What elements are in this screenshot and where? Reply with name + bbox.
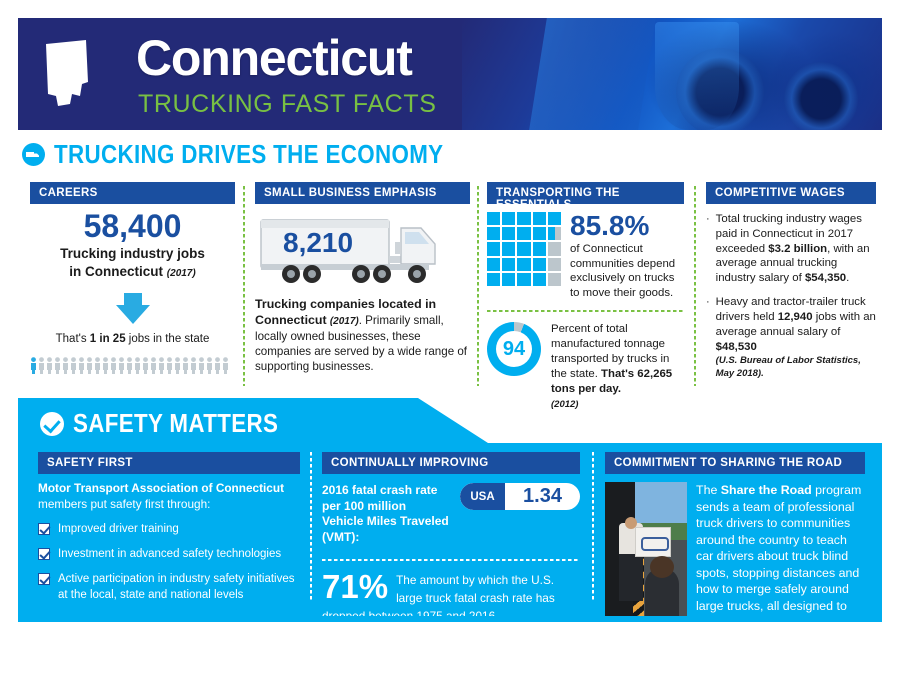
safety-first-lead-rest: members put safety first through: (38, 497, 210, 511)
waffle-cell (517, 273, 530, 286)
truck-wheel-decor-2 (784, 62, 858, 130)
waffle-cell (487, 227, 500, 240)
truck-driver-demonstration-photo (605, 482, 687, 617)
person-icon (166, 357, 173, 374)
waffle-cell (548, 242, 561, 255)
wages-bullet-list: ·Total trucking industry wages paid in C… (706, 212, 876, 380)
person-icon (158, 357, 165, 374)
panel-wages-heading: COMPETITIVE WAGES (706, 182, 876, 204)
person-icon (190, 357, 197, 374)
panel-transporting-heading: TRANSPORTING THE ESSENTIALS (487, 182, 684, 204)
footer: ATRI ★ AmericanTransportationResearchIns… (0, 624, 900, 684)
crash-rate-row: 2016 fatal crash rate per 100 million Ve… (322, 483, 580, 545)
waffle-cell (517, 227, 530, 240)
panel-wages: COMPETITIVE WAGES ·Total trucking indust… (706, 182, 876, 389)
bullet-dot-icon: · (706, 212, 710, 286)
waffle-cell (533, 227, 546, 240)
waffle-cell (487, 258, 500, 271)
careers-ratio-bold: 1 in 25 (90, 333, 126, 345)
infographic-page: Connecticut TRUCKING FAST FACTS TRUCKING… (0, 0, 900, 684)
person-icon (54, 357, 61, 374)
usa-badge-region: USA (460, 483, 505, 510)
waffle-cell (533, 212, 546, 225)
safety-checklist-item-2[interactable]: Investment in advanced safety technologi… (38, 547, 300, 562)
careers-ratio-suffix: jobs in the state (126, 333, 210, 345)
small-business-big-number: 8,210 (283, 227, 353, 259)
crash-drop-percent: 71% (322, 571, 388, 602)
waffle-cell (517, 242, 530, 255)
waffle-cell (533, 258, 546, 271)
waffle-cell (548, 258, 561, 271)
waffle-cell (533, 242, 546, 255)
safety-checklist-label: Investment in advanced safety technologi… (58, 547, 281, 562)
person-icon (206, 357, 213, 374)
waffle-cell (517, 258, 530, 271)
section-title-economy-label: TRUCKING DRIVES THE ECONOMY (54, 139, 443, 170)
tonnage-text: Percent of total manufactured tonnage tr… (551, 322, 684, 396)
people-pictogram (30, 357, 235, 374)
person-icon (182, 357, 189, 374)
checkbox-checked-icon[interactable] (38, 523, 50, 535)
section-title-safety-label: SAFETY MATTERS (73, 408, 278, 439)
careers-line-2: in Connecticut (2017) (30, 264, 235, 280)
checkbox-checked-icon[interactable] (38, 573, 50, 585)
person-icon (174, 357, 181, 374)
waffle-cell (502, 227, 515, 240)
safety-first-lead-bold: Motor Transport Association of Connectic… (38, 481, 284, 495)
careers-line-1: Trucking industry jobs (30, 246, 235, 262)
panel-continually-improving: CONTINUALLY IMPROVING 2016 fatal crash r… (322, 452, 580, 625)
panel-improving-heading: CONTINUALLY IMPROVING (322, 452, 580, 474)
safety-first-lead: Motor Transport Association of Connectic… (38, 481, 300, 512)
panel-small-business-heading: SMALL BUSINESS EMPHASIS (255, 182, 470, 204)
down-arrow-icon (30, 293, 235, 324)
panel-safety-first-heading: SAFETY FIRST (38, 452, 300, 474)
person-icon (134, 357, 141, 374)
person-icon (150, 357, 157, 374)
wages-bullet: ·Total trucking industry wages paid in C… (706, 212, 876, 286)
waffle-cell (502, 242, 515, 255)
waffle-cell (487, 242, 500, 255)
careers-ratio-prefix: That's (56, 333, 90, 345)
page-title: Connecticut (136, 33, 412, 83)
header-banner: Connecticut TRUCKING FAST FACTS (18, 18, 882, 130)
small-business-year: (2017) (330, 316, 359, 327)
person-icon (78, 357, 85, 374)
careers-year: (2017) (167, 268, 196, 279)
waffle-cell (487, 273, 500, 286)
person-icon-highlighted (30, 357, 37, 374)
panel-careers-heading: CAREERS (30, 182, 235, 204)
waffle-cell (548, 212, 561, 225)
footer-accent-bar (18, 616, 882, 622)
transporting-top-row: 85.8% of Connecticut communities depend … (487, 212, 684, 300)
panel-small-business: SMALL BUSINESS EMPHASIS 8,210 (255, 182, 470, 375)
divider-transporting-inner (487, 310, 684, 312)
wages-bullet: ·Heavy and tractor-trailer truck drivers… (706, 295, 876, 380)
transporting-percent-text: of Connecticut communities depend exclus… (570, 242, 684, 300)
waffle-grid-chart (487, 212, 561, 286)
waffle-cell (502, 212, 515, 225)
panel-transporting: TRANSPORTING THE ESSENTIALS 85.8% of Con… (487, 182, 684, 410)
divider-improving-inner (322, 559, 580, 561)
waffle-cell (548, 273, 561, 286)
divider-improving-sharing (592, 452, 594, 602)
transporting-percent: 85.8% (570, 212, 684, 240)
careers-line-2-text: in Connecticut (69, 264, 163, 279)
safety-checklist-label: Active participation in industry safety … (58, 572, 300, 602)
tonnage-row: 94 Percent of total manufactured tonnage… (487, 322, 684, 409)
person-icon (142, 357, 149, 374)
person-icon (62, 357, 69, 374)
checkbox-checked-icon[interactable] (38, 548, 50, 560)
check-circle-icon (40, 412, 64, 436)
person-icon (70, 357, 77, 374)
panel-sharing-heading: COMMITMENT TO SHARING THE ROAD (605, 452, 865, 474)
usa-badge-value: 1.34 (505, 483, 580, 510)
sharing-text: The Share the Road program sends a team … (696, 482, 865, 647)
person-icon (110, 357, 117, 374)
truck-wheel-decor (676, 48, 764, 130)
waffle-cell (517, 212, 530, 225)
sharing-content-row: The Share the Road program sends a team … (605, 482, 865, 647)
waffle-cell (533, 273, 546, 286)
bullet-dot-icon: · (706, 295, 710, 380)
person-icon (198, 357, 205, 374)
panel-safety-first: SAFETY FIRST Motor Transport Association… (38, 452, 300, 603)
person-icon (126, 357, 133, 374)
page-subtitle: TRUCKING FAST FACTS (138, 90, 436, 119)
person-icon (214, 357, 221, 374)
tonnage-donut-chart: 94 (487, 322, 541, 376)
usa-rate-badge: USA 1.34 (460, 483, 580, 510)
person-icon (102, 357, 109, 374)
economy-panels: CAREERS 58,400 Trucking industry jobs in… (0, 182, 900, 382)
divider-safety-improving (310, 452, 312, 602)
truck-photo-background (462, 18, 882, 130)
person-icon (86, 357, 93, 374)
waffle-cell (548, 227, 561, 240)
sharing-text-bold: Share the Road (721, 483, 812, 497)
person-icon (222, 357, 229, 374)
sharing-text-pre: The (696, 483, 721, 497)
safety-checklist-label: Improved driver training (58, 522, 179, 537)
section-title-economy: TRUCKING DRIVES THE ECONOMY (22, 139, 507, 170)
waffle-cell (502, 273, 515, 286)
person-icon (46, 357, 53, 374)
person-icon (38, 357, 45, 374)
waffle-cell (502, 258, 515, 271)
person-icon (94, 357, 101, 374)
wages-source: (U.S. Bureau of Labor Statistics, May 20… (716, 355, 876, 380)
safety-checklist-item-3[interactable]: Active participation in industry safety … (38, 572, 300, 602)
tonnage-source: (2012) (551, 399, 684, 410)
connecticut-state-outline-icon (42, 38, 90, 110)
waffle-cell (487, 212, 500, 225)
tonnage-donut-value: 94 (487, 322, 541, 376)
truck-circle-icon (22, 143, 45, 166)
wages-bullet-text: Heavy and tractor-trailer truck drivers … (716, 295, 876, 380)
person-icon (118, 357, 125, 374)
careers-ratio-text: That's 1 in 25 jobs in the state (30, 333, 235, 345)
crash-rate-label: 2016 fatal crash rate per 100 million Ve… (322, 483, 450, 545)
safety-checklist-item-1[interactable]: Improved driver training (38, 522, 300, 537)
semi-truck-icon: 8,210 (255, 212, 470, 294)
careers-big-number: 58,400 (30, 210, 235, 244)
panel-careers: CAREERS 58,400 Trucking industry jobs in… (30, 182, 235, 374)
section-title-safety: SAFETY MATTERS (40, 408, 312, 439)
small-business-body: Trucking companies located in Connecticu… (255, 296, 470, 375)
wages-bullet-text: Total trucking industry wages paid in Co… (716, 212, 876, 286)
safety-first-checklist: Improved driver trainingInvestment in ad… (38, 522, 300, 603)
